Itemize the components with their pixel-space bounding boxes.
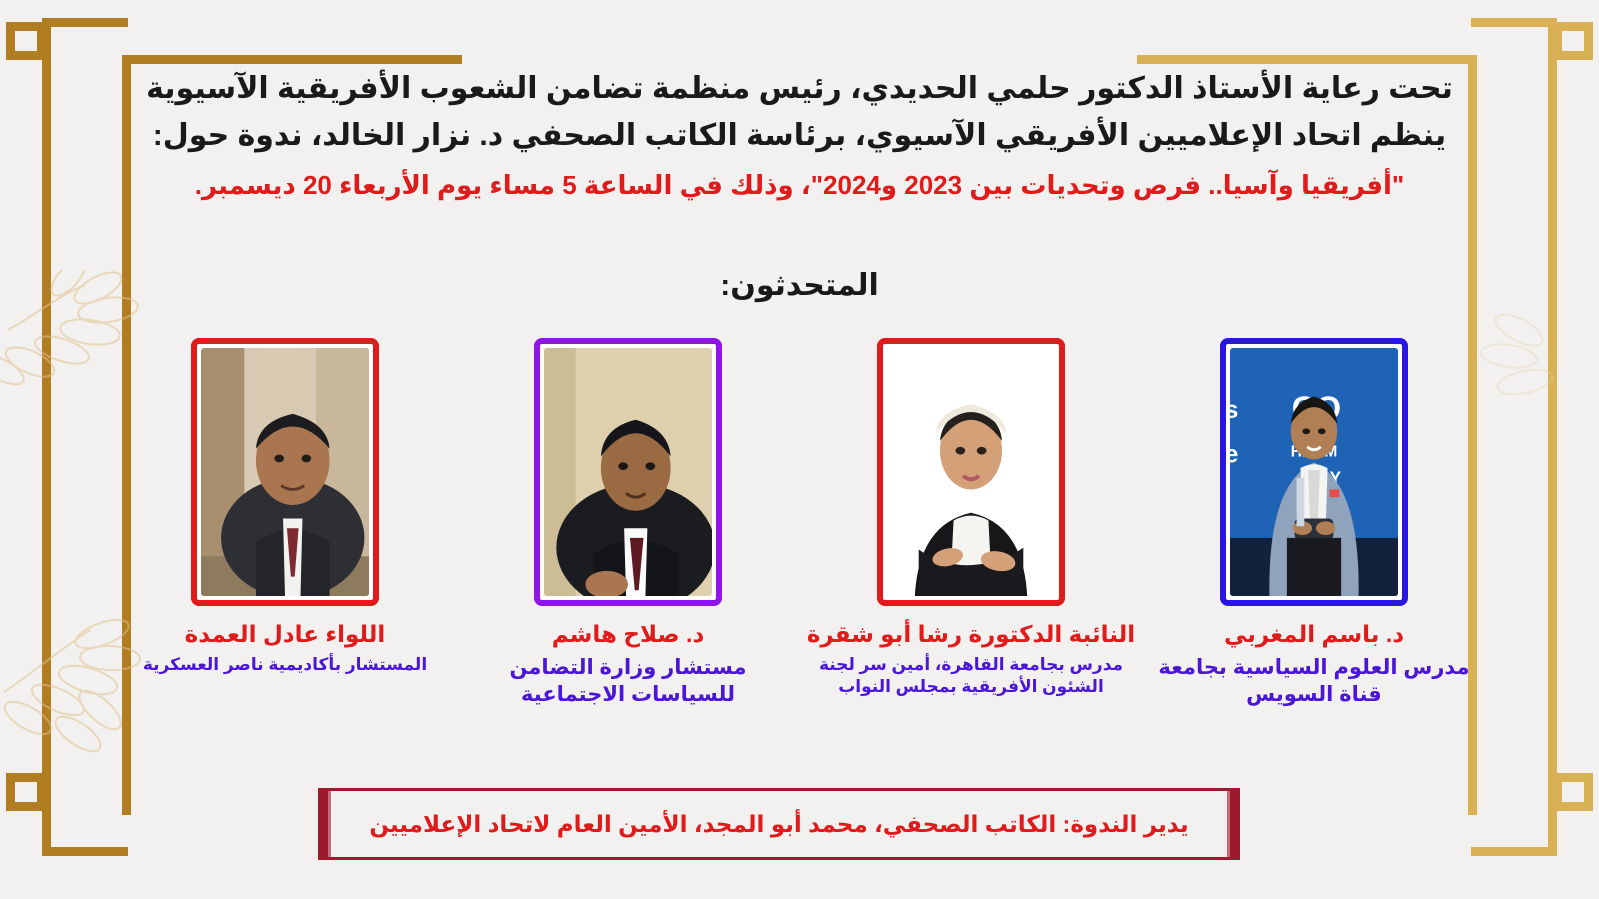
header-line-2: ينظم اتحاد الإعلاميين الأفريقي الآسيوي، … bbox=[120, 113, 1479, 160]
corner-box-bottom-left bbox=[6, 773, 46, 811]
photo-backdrop-ge: ge bbox=[1230, 440, 1238, 468]
corner-box-top-right bbox=[1553, 22, 1593, 60]
frame-top-left-long bbox=[122, 55, 462, 64]
speaker-photo-frame bbox=[191, 338, 379, 606]
speaker-photo bbox=[887, 348, 1055, 596]
frame-top-right-horizontal bbox=[1471, 18, 1557, 27]
speaker-photo-frame: ns ge CO HARM GY bbox=[1220, 338, 1408, 606]
speaker-name: د. صلاح هاشم bbox=[552, 620, 704, 649]
speaker-title: المستشار بأكاديمية ناصر العسكرية bbox=[143, 654, 427, 676]
speaker-card: د. صلاح هاشم مستشار وزارة التضامن للسياس… bbox=[463, 338, 793, 708]
speaker-photo: ns ge CO HARM GY bbox=[1230, 348, 1398, 596]
speaker-card: اللواء عادل العمدة المستشار بأكاديمية نا… bbox=[120, 338, 450, 676]
speaker-photo-frame bbox=[877, 338, 1065, 606]
frame-bottom-right-horizontal bbox=[1471, 847, 1557, 856]
header-line-3-title: "أفريقيا وآسيا.. فرص وتحديات بين 2023 و2… bbox=[120, 165, 1479, 205]
frame-left-vertical bbox=[42, 18, 51, 856]
speaker-photo-frame bbox=[534, 338, 722, 606]
speakers-heading: المتحدثون: bbox=[0, 268, 1599, 303]
header-line-1: تحت رعاية الأستاذ الدكتور حلمي الحديدي، … bbox=[120, 66, 1479, 113]
speaker-card: النائبة الدكتورة رشا أبو شقرة مدرس بجامع… bbox=[806, 338, 1136, 698]
speakers-row: اللواء عادل العمدة المستشار بأكاديمية نا… bbox=[120, 338, 1479, 758]
speaker-photo bbox=[201, 348, 369, 596]
speaker-name: اللواء عادل العمدة bbox=[185, 620, 386, 649]
speaker-name: النائبة الدكتورة رشا أبو شقرة bbox=[807, 620, 1135, 649]
header-text-block: تحت رعاية الأستاذ الدكتور حلمي الحديدي، … bbox=[120, 66, 1479, 205]
frame-bottom-left-horizontal bbox=[42, 847, 128, 856]
speaker-title: مستشار وزارة التضامن للسياسات الاجتماعية bbox=[463, 654, 793, 709]
speaker-title: مدرس بجامعة القاهرة، أمين سر لجنة الشئون… bbox=[806, 654, 1136, 698]
photo-backdrop-ns: ns bbox=[1230, 396, 1238, 424]
speaker-photo bbox=[544, 348, 712, 596]
corner-box-top-left bbox=[6, 22, 46, 60]
speaker-card: ns ge CO HARM GY bbox=[1149, 338, 1479, 708]
moderator-banner: يدير الندوة: الكاتب الصحفي، محمد أبو الم… bbox=[318, 788, 1240, 860]
frame-top-left-horizontal bbox=[42, 18, 128, 27]
corner-box-bottom-right bbox=[1553, 773, 1593, 811]
moderator-text: يدير الندوة: الكاتب الصحفي، محمد أبو الم… bbox=[369, 811, 1188, 838]
poster-root: تحت رعاية الأستاذ الدكتور حلمي الحديدي، … bbox=[0, 0, 1599, 899]
leaf-ornament-right bbox=[1479, 300, 1599, 450]
moderator-banner-inner: يدير الندوة: الكاتب الصحفي، محمد أبو الم… bbox=[328, 791, 1230, 857]
speaker-name: د. باسم المغربي bbox=[1224, 620, 1404, 649]
frame-top-right-long bbox=[1137, 55, 1477, 64]
speaker-title: مدرس العلوم السياسية بجامعة قناة السويس bbox=[1149, 654, 1479, 709]
frame-right-vertical bbox=[1548, 18, 1557, 856]
